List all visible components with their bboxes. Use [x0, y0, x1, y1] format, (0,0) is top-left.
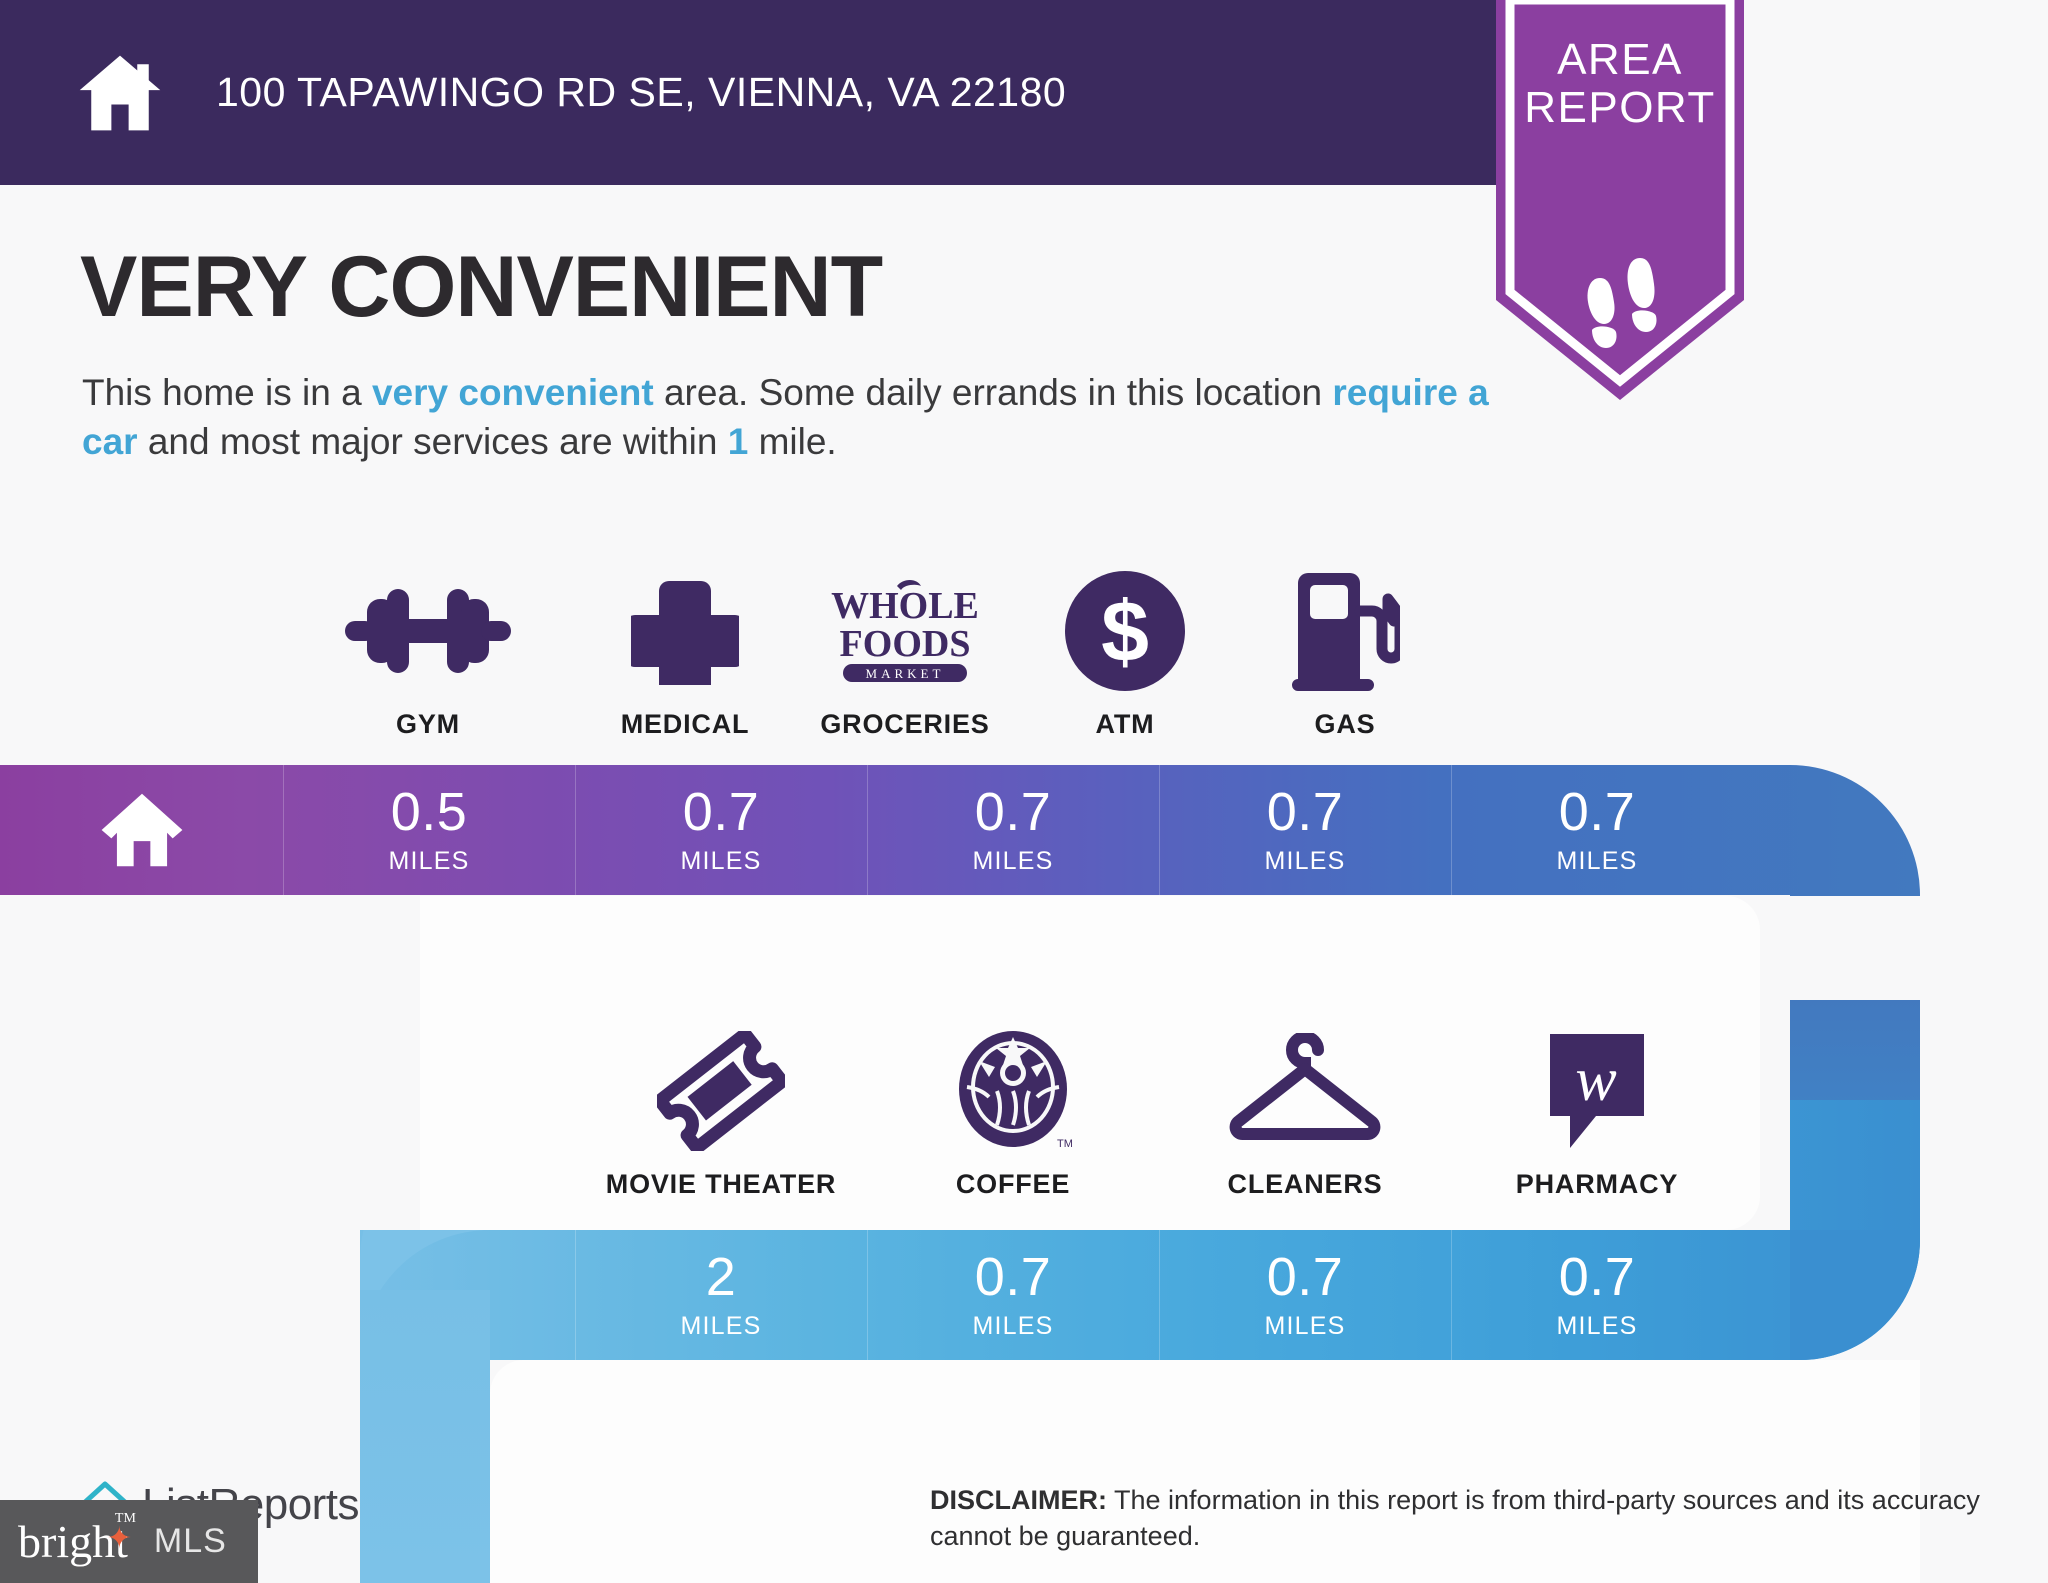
distance-unit: MILES — [1556, 847, 1637, 876]
clothes-hanger-icon — [1227, 1031, 1383, 1151]
icon-cell-gas: GAS — [1080, 560, 1610, 740]
icon-label: COFFEE — [956, 1169, 1070, 1200]
row2-left-filler — [0, 896, 420, 1230]
segment-divider — [575, 765, 576, 895]
mls-text: MLS — [154, 1522, 227, 1561]
segment-divider — [867, 765, 868, 895]
starbucks-logo-icon: TM — [953, 1031, 1073, 1151]
svg-text:TM: TM — [1057, 1138, 1073, 1150]
distance-cell-medical: 0.7 MILES — [575, 765, 867, 895]
distance-unit: MILES — [680, 1312, 761, 1341]
distance-value: 0.5 — [391, 785, 468, 839]
bright-mls-logo: bright ✦ TM MLS — [0, 1500, 258, 1583]
walgreens-logo-icon: w — [1544, 1031, 1650, 1151]
distance-cell-movie-theater: 2 MILES — [575, 1230, 867, 1360]
distance-cell-pharmacy: 0.7 MILES — [1451, 1230, 1743, 1360]
distance-value: 0.7 — [1267, 785, 1344, 839]
distance-cell-atm: 0.7 MILES — [1159, 765, 1451, 895]
trademark-mark: TM — [115, 1511, 136, 1527]
bright-wordmark: bright ✦ TM — [18, 1515, 128, 1568]
gas-pump-icon — [1290, 571, 1400, 691]
segment-divider — [1159, 1230, 1160, 1360]
ribbon-mask-c — [0, 1230, 360, 1360]
distance-value: 0.7 — [975, 785, 1052, 839]
distance-unit: MILES — [972, 847, 1053, 876]
segment-divider — [867, 1230, 868, 1360]
distance-value: 2 — [706, 1250, 737, 1304]
icon-label: PHARMACY — [1516, 1169, 1678, 1200]
disclaimer: DISCLAIMER: The information in this repo… — [930, 1482, 2020, 1555]
distance-value: 0.7 — [1267, 1250, 1344, 1304]
distance-value: 0.7 — [683, 785, 760, 839]
home-icon — [96, 791, 188, 869]
icon-label: GAS — [1315, 709, 1376, 740]
home-marker-cell — [0, 765, 283, 895]
distance-value: 0.7 — [1559, 1250, 1636, 1304]
distance-unit: MILES — [972, 1312, 1053, 1341]
area-report-badge: AREA REPORT — [1496, 0, 1744, 440]
distance-unit: MILES — [1556, 1312, 1637, 1341]
distance-unit: MILES — [680, 847, 761, 876]
icon-label: MOVIE THEATER — [606, 1169, 836, 1200]
segment-divider — [1159, 765, 1160, 895]
distance-cell-groceries: 0.7 MILES — [867, 765, 1159, 895]
icon-cell-movie-theater: MOVIE THEATER — [575, 1000, 867, 1200]
icon-cell-coffee: TM COFFEE — [867, 1000, 1159, 1200]
movie-ticket-icon — [657, 1031, 785, 1151]
distance-value: 0.7 — [975, 1250, 1052, 1304]
area-report-page: 100 TAPAWINGO RD SE, VIENNA, VA 22180 AR… — [0, 0, 2048, 1583]
distance-unit: MILES — [388, 847, 469, 876]
distance-cell-gas: 0.7 MILES — [1451, 765, 1743, 895]
distance-cell-gym: 0.5 MILES — [283, 765, 575, 895]
distance-cell-coffee: 0.7 MILES — [867, 1230, 1159, 1360]
svg-text:w: w — [1575, 1046, 1616, 1114]
distance-cell-cleaners: 0.7 MILES — [1159, 1230, 1451, 1360]
segment-divider — [575, 1230, 576, 1360]
segment-divider — [283, 765, 284, 895]
icon-cell-cleaners: CLEANERS — [1159, 1000, 1451, 1200]
distance-value: 0.7 — [1559, 785, 1636, 839]
badge-title: AREA REPORT — [1496, 36, 1744, 131]
distance-unit: MILES — [1264, 1312, 1345, 1341]
badge-line-1: AREA — [1496, 36, 1744, 84]
distance-unit: MILES — [1264, 847, 1345, 876]
icon-cell-pharmacy: w PHARMACY — [1451, 1000, 1743, 1200]
icon-label: CLEANERS — [1228, 1169, 1383, 1200]
segment-divider — [1451, 765, 1452, 895]
badge-line-2: REPORT — [1496, 84, 1744, 132]
segment-divider — [1451, 1230, 1452, 1360]
disclaimer-label: DISCLAIMER: — [930, 1485, 1107, 1515]
